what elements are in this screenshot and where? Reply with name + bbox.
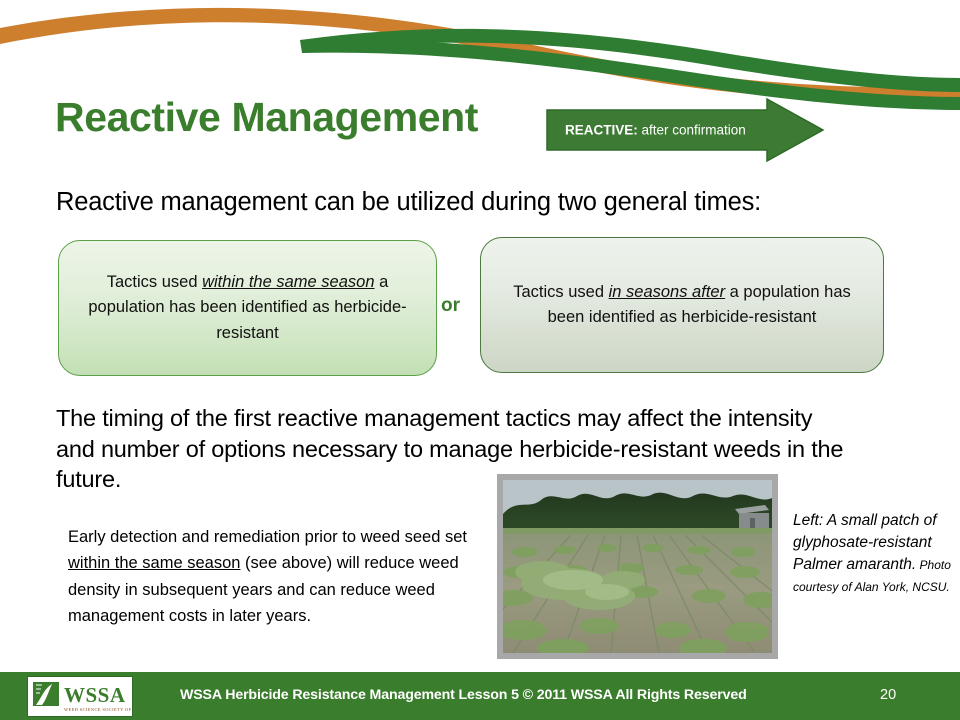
note-pre: Early detection and remediation prior to… [68,528,467,546]
arrow-banner-label: REACTIVE: after confirmation [565,123,746,137]
option-box-same-season-text: Tactics used within the same season a po… [73,270,422,345]
wssa-logo-icon: WSSA WEED SCIENCE SOCIETY OF AMERICA [28,677,132,716]
arrow-banner-label-rest: after confirmation [638,122,746,137]
option-right-pre: Tactics used [513,283,608,301]
shed-icon [735,505,769,529]
orange-swoosh-icon [0,8,960,101]
option-right-emphasis: in seasons after [609,283,725,301]
svg-text:WEED SCIENCE SOCIETY OF AMERIC: WEED SCIENCE SOCIETY OF AMERICA [64,707,132,712]
page-title: Reactive Management [55,96,478,139]
option-box-same-season: Tactics used within the same season a po… [58,240,437,376]
svg-text:WSSA: WSSA [64,683,126,707]
reactive-arrow-banner: REACTIVE: after confirmation [545,97,825,163]
wssa-logo: WSSA WEED SCIENCE SOCIETY OF AMERICA [27,676,133,717]
wssa-leaf-emblem [33,682,59,706]
intro-line: Reactive management can be utilized duri… [56,188,761,217]
note-paragraph: Early detection and remediation prior to… [68,524,468,630]
option-left-emphasis: within the same season [202,273,374,291]
field-photo [497,474,778,659]
option-box-later-seasons: Tactics used in seasons after a populati… [480,237,884,373]
arrow-banner-label-bold: REACTIVE: [565,122,638,137]
option-left-pre: Tactics used [107,273,202,291]
footer-text: WSSA Herbicide Resistance Management Les… [180,687,747,703]
green-swoosh-upper-icon [300,29,960,92]
field-photo-image [503,480,772,653]
option-box-later-seasons-text: Tactics used in seasons after a populati… [495,280,869,330]
note-emphasis: within the same season [68,554,240,572]
or-connector-label: or [441,295,460,317]
photo-caption: Left: A small patch of glyphosate-resist… [793,510,953,598]
footer-page-number: 20 [880,687,896,703]
